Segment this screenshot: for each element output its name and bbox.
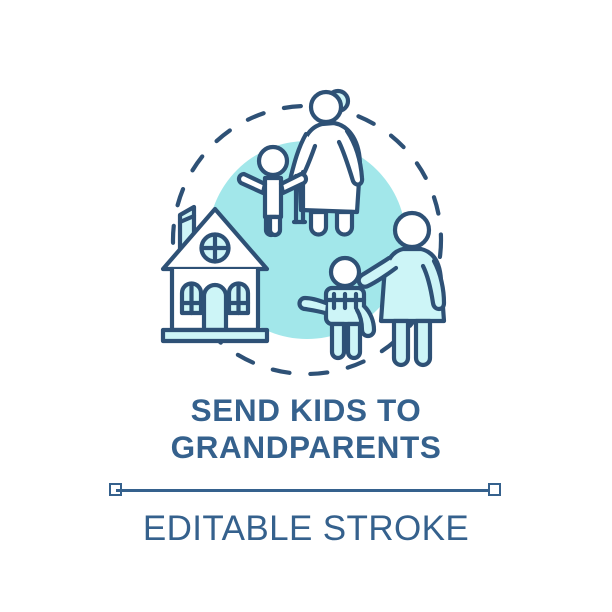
divider bbox=[0, 477, 612, 503]
grandmother-foot-left bbox=[311, 212, 326, 235]
title-line-2: GRANDPARENTS bbox=[0, 429, 612, 466]
mother-leg-right bbox=[416, 321, 430, 365]
child-backpack-leg-left bbox=[332, 324, 344, 358]
divider-rule bbox=[116, 489, 496, 492]
divider-endpoint-right bbox=[488, 483, 501, 496]
house-base bbox=[163, 330, 267, 341]
mother-head bbox=[395, 213, 429, 247]
house-door bbox=[204, 285, 226, 330]
child-backpack-head bbox=[331, 258, 359, 286]
child-open-head bbox=[259, 147, 287, 175]
caption-block: SEND KIDS TO GRANDPARENTS EDITABLE STROK… bbox=[0, 392, 612, 549]
subtitle: EDITABLE STROKE bbox=[0, 509, 612, 549]
illustration-svg bbox=[0, 0, 612, 395]
concept-icon-card: SEND KIDS TO GRANDPARENTS EDITABLE STROK… bbox=[0, 0, 612, 612]
grandmother-foot-right bbox=[337, 212, 352, 235]
illustration-area bbox=[0, 0, 612, 395]
grandmother-head bbox=[311, 92, 341, 122]
child-backpack-arm-left bbox=[300, 298, 327, 313]
title-line-1: SEND KIDS TO bbox=[0, 392, 612, 429]
child-open-leg-right bbox=[270, 217, 280, 235]
child-open-body bbox=[265, 178, 281, 217]
mother-leg-left bbox=[394, 321, 408, 365]
grandmother-group bbox=[290, 91, 362, 235]
child-backpack-leg-right bbox=[348, 324, 360, 358]
